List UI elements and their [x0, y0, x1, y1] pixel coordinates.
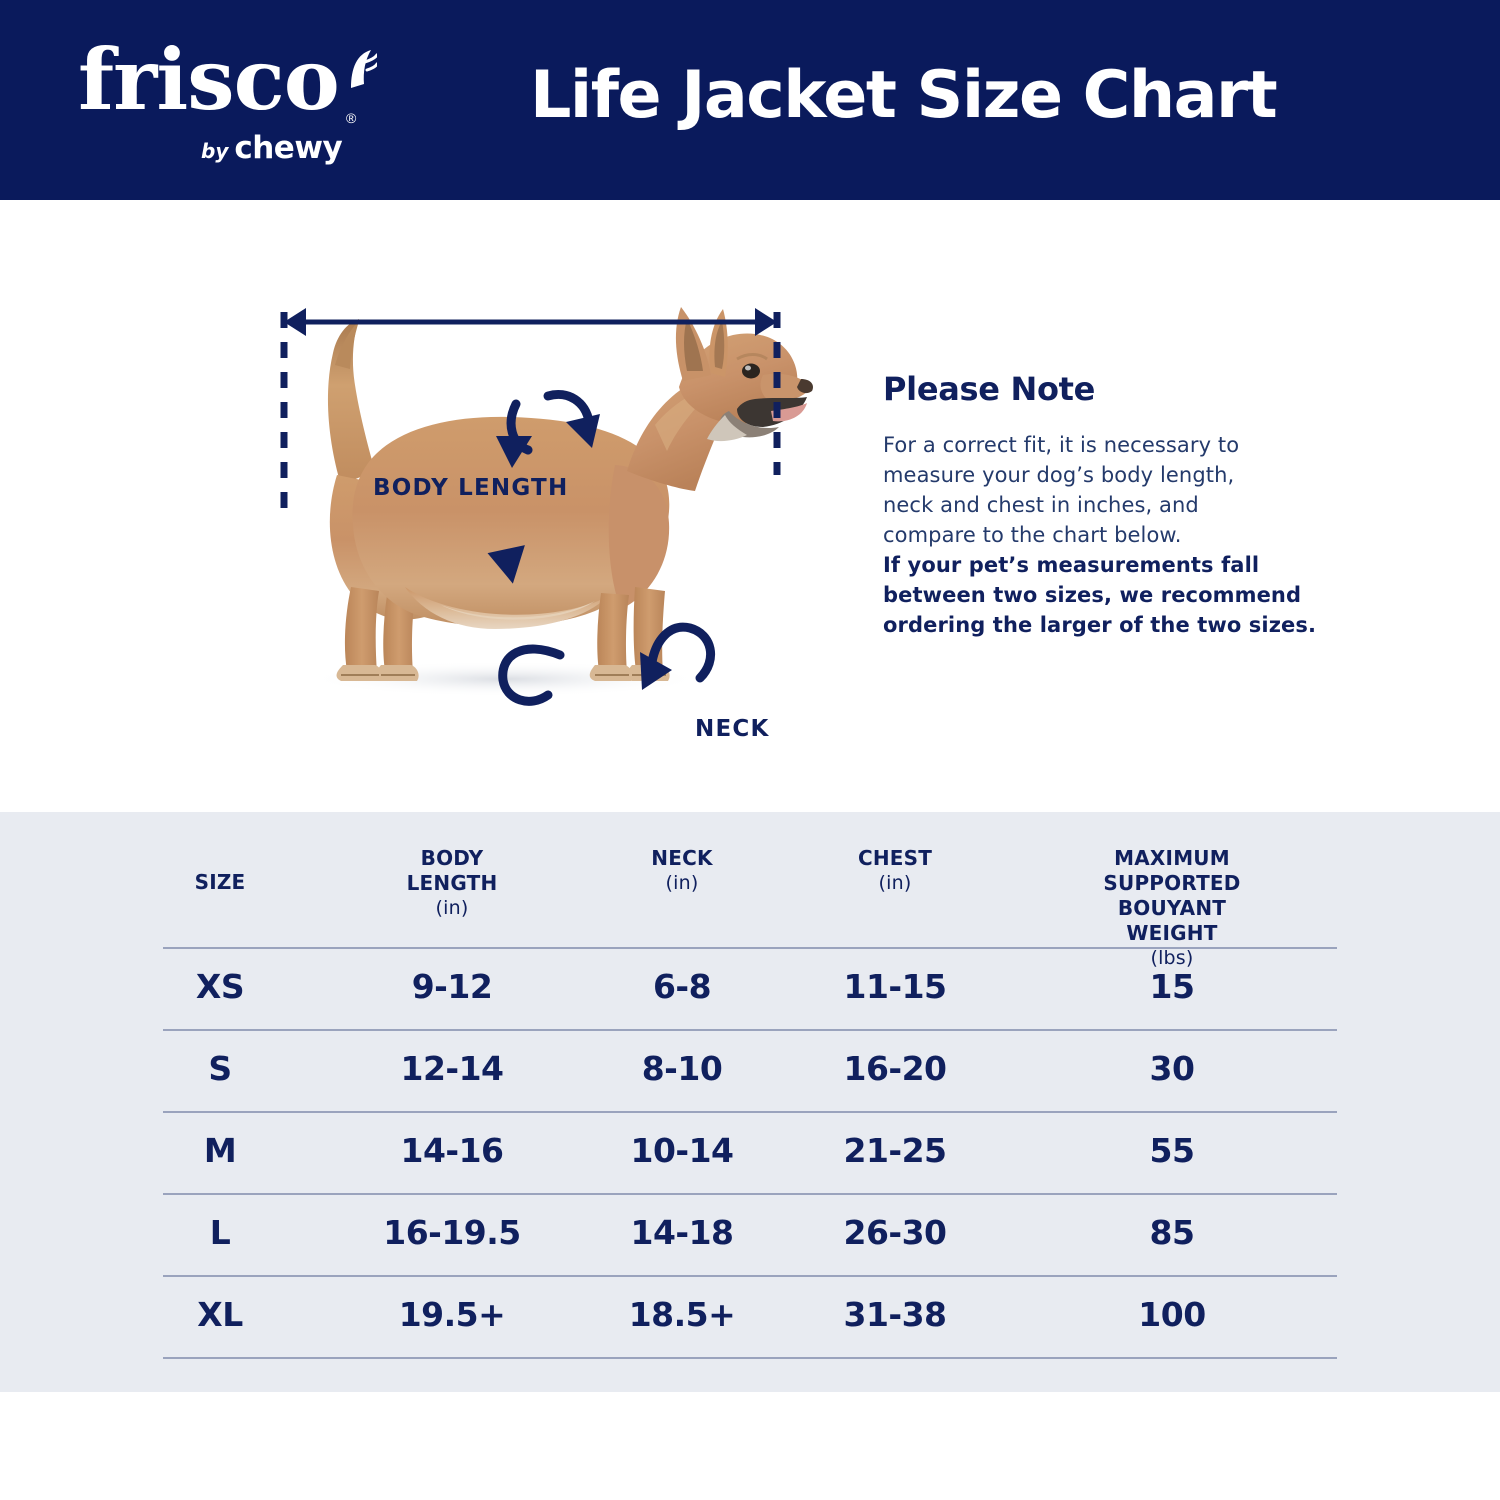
- column-header-neck-line1: NECK: [651, 846, 712, 870]
- cell-size: L: [210, 1213, 231, 1252]
- column-header-body-length-line1: BODY: [421, 846, 484, 870]
- table-row: XS 9-12 6-8 11-15 15: [163, 947, 1337, 1029]
- note-line: measure your dog’s body length,: [883, 460, 1353, 490]
- dog-tail-flourish-icon: [321, 48, 377, 100]
- cell-chest: 26-30: [843, 1213, 946, 1252]
- cell-chest: 31-38: [843, 1295, 946, 1334]
- column-header-body-length-line2: LENGTH: [407, 871, 498, 895]
- note-line: neck and chest in inches, and: [883, 490, 1353, 520]
- logo-wordmark-text: frisco: [78, 38, 339, 122]
- cell-chest: 11-15: [843, 967, 946, 1006]
- cell-neck: 14-18: [630, 1213, 733, 1252]
- table-header-row: SIZE BODY LENGTH (in) NECK (in) CHEST (i…: [163, 812, 1337, 947]
- column-header-chest-line1: CHEST: [858, 846, 932, 870]
- cell-body-length: 9-12: [412, 967, 493, 1006]
- size-chart-page: frisco ® by chewy Life Jacket Size Chart: [0, 0, 1500, 1500]
- note-line: For a correct fit, it is necessary to: [883, 430, 1353, 460]
- cell-neck: 18.5+: [629, 1295, 736, 1334]
- note-line: compare to the chart below.: [883, 520, 1353, 550]
- neck-label: NECK: [695, 716, 769, 742]
- table-row: M 14-16 10-14 21-25 55: [163, 1111, 1337, 1193]
- page-title: Life Jacket Size Chart: [530, 58, 1370, 133]
- cell-max-weight: 30: [1150, 1049, 1195, 1088]
- column-header-neck: NECK (in): [651, 846, 712, 896]
- cell-neck: 8-10: [642, 1049, 723, 1088]
- column-header-chest: CHEST (in): [858, 846, 932, 896]
- cell-chest: 16-20: [843, 1049, 946, 1088]
- cell-body-length: 16-19.5: [383, 1213, 521, 1252]
- measurement-diagram-area: BODY LENGTH NECK CHEST: [0, 200, 1500, 812]
- cell-neck: 10-14: [630, 1131, 733, 1170]
- column-header-body-length: BODY LENGTH (in): [407, 846, 498, 921]
- cell-chest: 21-25: [843, 1131, 946, 1170]
- table-row: S 12-14 8-10 16-20 30: [163, 1029, 1337, 1111]
- table-row: XL 19.5+ 18.5+ 31-38 100: [163, 1275, 1337, 1357]
- logo-by-text: by: [201, 139, 228, 163]
- column-header-body-length-unit: (in): [407, 896, 498, 921]
- logo-chewy-text: chewy: [234, 130, 342, 166]
- column-header-chest-unit: (in): [858, 871, 932, 896]
- cell-max-weight: 100: [1138, 1295, 1205, 1334]
- note-heading: Please Note: [883, 370, 1353, 408]
- column-header-size: SIZE: [195, 870, 246, 895]
- frisco-logo: frisco ® by chewy: [78, 38, 378, 168]
- bottom-white-strip: [0, 1392, 1500, 1500]
- size-table-panel: SIZE BODY LENGTH (in) NECK (in) CHEST (i…: [0, 812, 1500, 1392]
- cell-size: XS: [196, 967, 244, 1006]
- cell-body-length: 19.5+: [399, 1295, 506, 1334]
- logo-by-chewy: by chewy: [201, 130, 342, 166]
- cell-body-length: 12-14: [400, 1049, 503, 1088]
- cell-max-weight: 15: [1150, 967, 1195, 1006]
- header-bar: frisco ® by chewy Life Jacket Size Chart: [0, 0, 1500, 200]
- registered-trademark-icon: ®: [346, 110, 356, 126]
- please-note-block: Please Note For a correct fit, it is nec…: [883, 370, 1353, 640]
- column-header-neck-unit: (in): [651, 871, 712, 896]
- note-line: If your pet’s measurements fall: [883, 550, 1353, 580]
- body-length-label: BODY LENGTH: [373, 475, 568, 501]
- size-table: SIZE BODY LENGTH (in) NECK (in) CHEST (i…: [163, 812, 1337, 947]
- note-line: between two sizes, we recommend: [883, 580, 1353, 610]
- cell-max-weight: 55: [1150, 1131, 1195, 1170]
- cell-size: S: [208, 1049, 231, 1088]
- cell-size: M: [204, 1131, 236, 1170]
- table-row: L 16-19.5 14-18 26-30 85: [163, 1193, 1337, 1275]
- table-divider: [163, 1357, 1337, 1359]
- cell-max-weight: 85: [1150, 1213, 1195, 1252]
- cell-body-length: 14-16: [400, 1131, 503, 1170]
- cell-size: XL: [197, 1295, 242, 1334]
- column-header-max-weight-line1: MAXIMUM SUPPORTED: [1103, 846, 1240, 895]
- cell-neck: 6-8: [653, 967, 711, 1006]
- note-line: ordering the larger of the two sizes.: [883, 610, 1353, 640]
- column-header-max-weight-line2: BOUYANT WEIGHT: [1118, 896, 1226, 945]
